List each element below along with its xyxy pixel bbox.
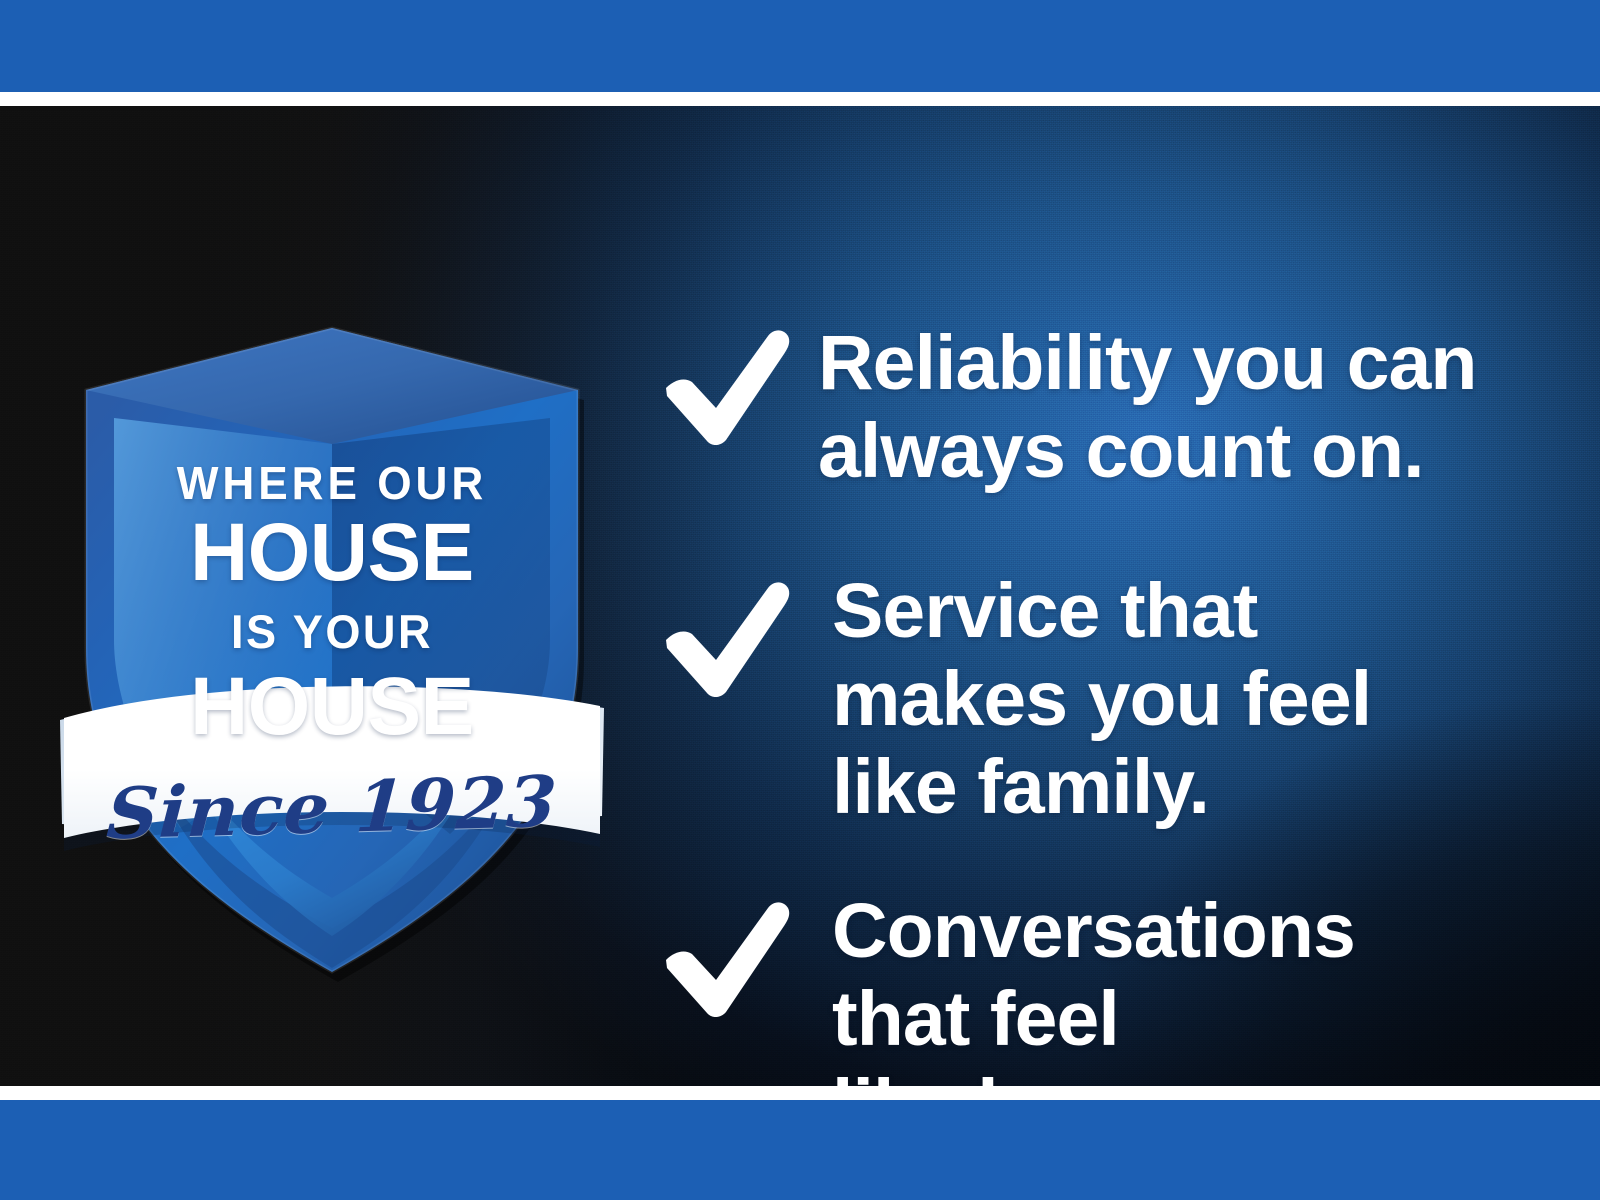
shield-badge: WHERE OUR HOUSE IS YOUR HOUSE Since 1923 (52, 268, 612, 948)
benefit-text-3: Conversations that feel like home. (832, 888, 1355, 1086)
benefit-item-3: Conversations that feel like home. (660, 894, 1355, 1086)
checkmark-icon (660, 898, 792, 1018)
benefit-item-2: Service that makes you feel like family. (660, 574, 1371, 831)
benefit-text-2: Service that makes you feel like family. (832, 568, 1371, 831)
benefits-list: Reliability you can always count on. Ser… (660, 212, 1520, 1086)
promo-poster: WHERE OUR HOUSE IS YOUR HOUSE Since 1923… (0, 0, 1600, 1200)
bottom-accent-band (0, 1100, 1600, 1200)
main-panel: WHERE OUR HOUSE IS YOUR HOUSE Since 1923… (0, 106, 1600, 1086)
checkmark-icon (660, 326, 792, 446)
benefit-text-1: Reliability you can always count on. (818, 320, 1477, 496)
checkmark-icon (660, 578, 792, 698)
top-accent-band (0, 0, 1600, 92)
benefit-item-1: Reliability you can always count on. (660, 322, 1477, 496)
